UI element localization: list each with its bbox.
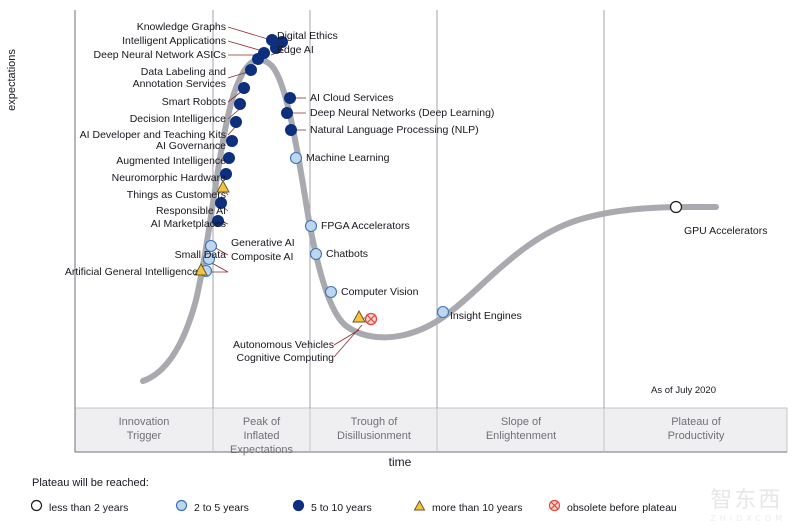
phase-line: Inflated (214, 429, 309, 443)
phase-innovation-trigger: Innovation Trigger (78, 415, 210, 443)
watermark-text: 智东西 (710, 488, 782, 513)
label-digital-ethics: Digital Ethics (277, 30, 338, 42)
phase-line: Trough of (311, 415, 437, 429)
label-responsible-ai: Responsible AI (8, 205, 226, 217)
data-points (195, 35, 682, 325)
label-decision-intelligence: Decision Intelligence (8, 113, 226, 125)
watermark: 智东西 ZHIDXCOM (710, 482, 786, 523)
point-computer-vision (326, 287, 337, 298)
label-chatbots: Chatbots (326, 248, 368, 260)
label-neuromorphic-hardware: Neuromorphic Hardware (8, 172, 226, 184)
label-knowledge-graphs: Knowledge Graphs (8, 21, 226, 33)
point-ai-developer-kits (231, 117, 242, 128)
phase-line: Disillusionment (311, 429, 437, 443)
label-augmented-intelligence: Augmented Intelligence (8, 155, 226, 167)
phase-line: Peak of (214, 415, 309, 429)
label-machine-learning: Machine Learning (306, 152, 389, 164)
label-artificial-general-intelligence: Artificial General Intelligence (8, 266, 198, 278)
label-fpga-accelerators: FPGA Accelerators (321, 220, 410, 232)
leader-lines (205, 27, 369, 357)
label-edge-ai: Edge AI (277, 44, 314, 56)
label-composite-ai: Composite AI (231, 251, 293, 263)
point-ai-governance (227, 136, 238, 147)
phase-plateau-of-productivity: Plateau of Productivity (605, 415, 787, 443)
label-ai-cloud-services: AI Cloud Services (310, 92, 393, 104)
crossed-circle-icon (548, 499, 561, 517)
point-chatbots (311, 249, 322, 260)
legend-item-obsolete-before-plateau: obsolete before plateau (548, 499, 677, 515)
phase-slope-of-enlightenment: Slope of Enlightenment (438, 415, 604, 443)
legend-title: Plateau will be reached: (32, 477, 149, 489)
point-smart-robots (239, 83, 250, 94)
point-nlp (286, 125, 297, 136)
point-deep-neural-network-asics (253, 54, 264, 65)
point-data-labeling (246, 65, 257, 76)
point-decision-intelligence (235, 99, 246, 110)
label-things-as-customers: Things as Customers (8, 189, 226, 201)
legend-item-2-to-5-years: 2 to 5 years (175, 499, 249, 515)
light-circle-icon (175, 499, 188, 517)
label-ai-governance: AI Governance (8, 140, 226, 152)
point-deep-neural-networks (282, 108, 293, 119)
legend-label: 2 to 5 years (194, 502, 249, 514)
label-small-data: Small Data (8, 249, 226, 261)
point-gpu-accelerators (671, 202, 682, 213)
open-circle-icon (30, 499, 43, 517)
label-natural-language-processing: Natural Language Processing (NLP) (310, 124, 479, 136)
x-axis-title: time (0, 455, 800, 469)
label-cognitive-computing: Cognitive Computing (130, 352, 334, 364)
phase-line: Productivity (605, 429, 787, 443)
point-insight-engines (438, 307, 449, 318)
phase-trough-of-disillusionment: Trough of Disillusionment (311, 415, 437, 443)
phase-peak-of-inflated-expectations: Peak of Inflated Expectations (214, 415, 309, 457)
phase-line: Enlightenment (438, 429, 604, 443)
point-fpga-accelerators (306, 221, 317, 232)
point-autonomous-vehicles (353, 311, 365, 322)
point-ai-cloud-services (285, 93, 296, 104)
label-generative-ai: Generative AI (231, 237, 295, 249)
label-line-2: Annotation Services (133, 78, 226, 90)
label-insight-engines: Insight Engines (450, 310, 522, 322)
hype-cycle-chart: expectations time As of July 2020 Innova… (0, 0, 800, 531)
dark-circle-icon (292, 499, 305, 517)
label-computer-vision: Computer Vision (341, 286, 418, 298)
phase-line: Expectations (214, 443, 309, 457)
legend-item-5-to-10-years: 5 to 10 years (292, 499, 372, 515)
phase-line: Plateau of (605, 415, 787, 429)
legend: less than 2 years 2 to 5 years 5 to 10 y… (30, 499, 770, 521)
phase-line: Slope of (438, 415, 604, 429)
legend-label: 5 to 10 years (311, 502, 372, 514)
label-line-1: Data Labeling and (141, 66, 226, 78)
triangle-icon (413, 499, 426, 517)
legend-label: more than 10 years (432, 502, 522, 514)
label-gpu-accelerators: GPU Accelerators (684, 225, 767, 237)
phase-line: Innovation (78, 415, 210, 429)
legend-label: less than 2 years (49, 502, 128, 514)
label-smart-robots: Smart Robots (8, 96, 226, 108)
legend-label: obsolete before plateau (567, 502, 677, 514)
point-cognitive-computing (366, 314, 377, 325)
label-deep-neural-networks: Deep Neural Networks (Deep Learning) (310, 107, 494, 119)
label-ai-marketplaces: AI Marketplaces (8, 218, 226, 230)
legend-item-more-than-10-years: more than 10 years (413, 499, 522, 515)
phase-line: Trigger (78, 429, 210, 443)
legend-item-less-than-2-years: less than 2 years (30, 499, 128, 515)
watermark-subtext: ZHIDXCOM (710, 514, 786, 523)
label-deep-neural-network-asics: Deep Neural Network ASICs (8, 49, 226, 61)
label-data-labeling-and-annotation-services: Data Labeling and Annotation Services (8, 66, 226, 90)
as-of-note: As of July 2020 (651, 385, 716, 396)
label-intelligent-applications: Intelligent Applications (8, 35, 226, 47)
point-machine-learning (291, 153, 302, 164)
label-autonomous-vehicles: Autonomous Vehicles (130, 339, 334, 351)
